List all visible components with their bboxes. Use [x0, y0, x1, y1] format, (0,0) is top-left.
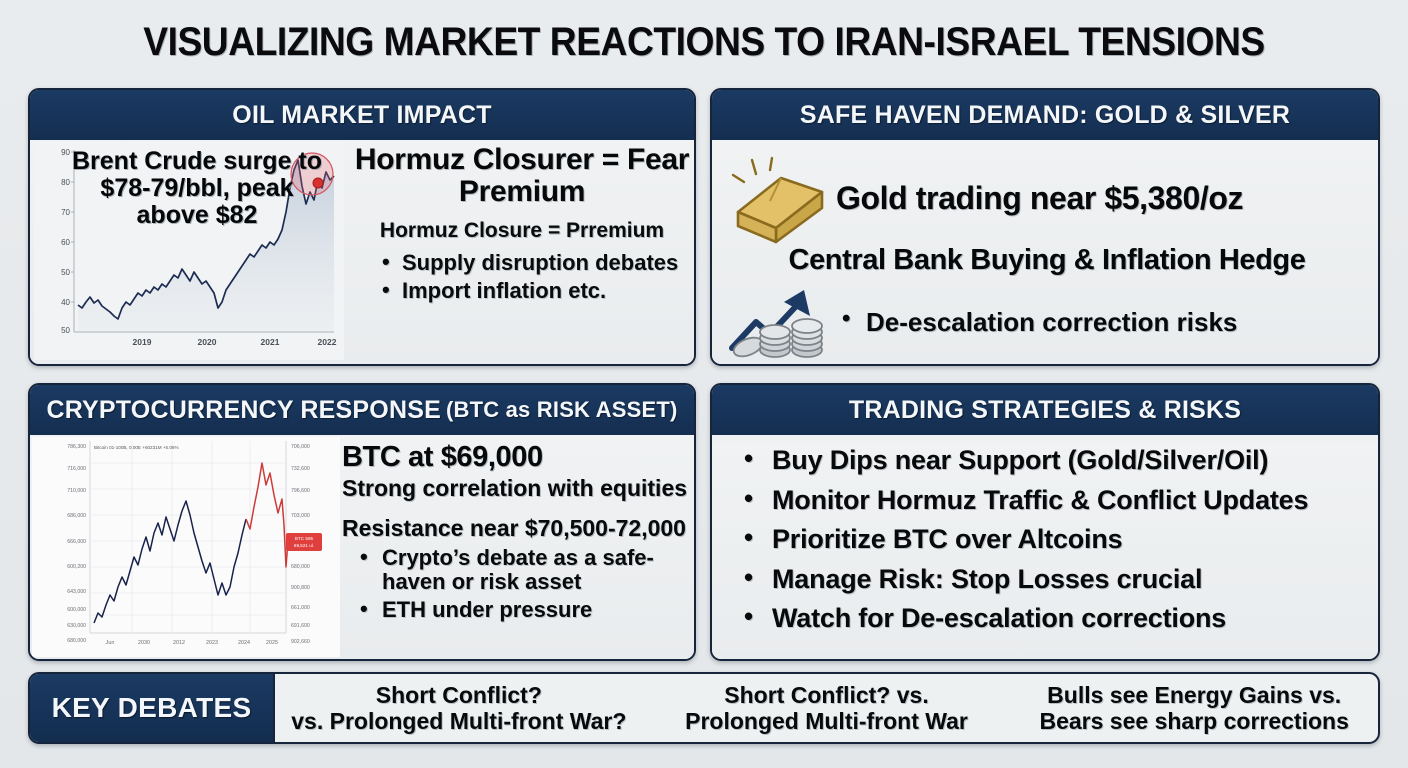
- svg-text:900,800: 900,800: [291, 585, 310, 591]
- panel-crypto-header: CRYPTOCURRENCY RESPONSE (BTC as RISK ASS…: [30, 385, 694, 435]
- svg-text:60: 60: [61, 238, 70, 247]
- silver-coins-trend-icon: [726, 282, 834, 362]
- panel-oil-market: OIL MARKET IMPACT 90 80 70 60 50 40 50: [28, 88, 696, 366]
- svg-text:2012: 2012: [173, 640, 185, 646]
- svg-text:703,000: 703,000: [291, 513, 310, 519]
- svg-text:630,000: 630,000: [67, 623, 86, 629]
- key-debate-cell-3: Bulls see Energy Gains vs. Bears see sha…: [1010, 674, 1378, 742]
- svg-text:2019: 2019: [133, 337, 152, 347]
- svg-text:Jun: Jun: [106, 640, 115, 646]
- svg-text:732,600: 732,600: [291, 466, 310, 472]
- gold-headline-row: Gold trading near $5,380/oz: [726, 150, 1366, 246]
- svg-text:796,600: 796,600: [291, 488, 310, 494]
- gold-bar-icon: [726, 152, 832, 244]
- svg-text:BTC 595: BTC 595: [295, 536, 314, 541]
- btc-resistance: Resistance near $70,500-72,000: [342, 515, 690, 542]
- panel-trading-body: Buy Dips near Support (Gold/Silver/Oil) …: [712, 441, 1378, 661]
- svg-text:2021: 2021: [261, 337, 280, 347]
- gold-headline: Gold trading near $5,380/oz: [836, 180, 1243, 217]
- list-item: Watch for De-escalation corrections: [744, 599, 1378, 639]
- svg-text:2022: 2022: [318, 337, 337, 347]
- list-item: Manage Risk: Stop Losses crucial: [744, 560, 1378, 600]
- crypto-text-block: BTC at $69,000 Strong correlation with e…: [342, 441, 690, 623]
- panel-crypto-header-main: CRYPTOCURRENCY RESPONSE: [46, 396, 441, 425]
- list-item: ETH under pressure: [360, 598, 690, 622]
- list-item: Import inflation etc.: [382, 277, 692, 305]
- debate-line-1: Short Conflict?: [291, 682, 626, 708]
- key-debate-cell-2: Short Conflict? vs. Prolonged Multi-fron…: [643, 674, 1011, 742]
- page-title: VISUALIZING MARKET REACTIONS TO IRAN-ISR…: [49, 20, 1358, 65]
- svg-text:69,521 ul.: 69,521 ul.: [294, 543, 314, 548]
- oil-overlay-callout: Brent Crude surge to $78-79/bbl, peak ab…: [62, 148, 332, 228]
- svg-text:50: 50: [61, 268, 70, 277]
- svg-text:600,200: 600,200: [67, 564, 86, 570]
- svg-text:2030: 2030: [138, 640, 150, 646]
- list-item: Monitor Hormuz Traffic & Conflict Update…: [744, 481, 1378, 521]
- key-debates-label: KEY DEBATES: [30, 674, 275, 742]
- svg-text:902,660: 902,660: [291, 639, 310, 645]
- btc-subhead: Strong correlation with equities: [342, 475, 690, 502]
- svg-text:2025: 2025: [266, 640, 278, 646]
- panel-gold-body: Gold trading near $5,380/oz Central Bank…: [712, 140, 1378, 364]
- btc-price-chart: Bitcoin 01-100B, 0.00E +60231M +5.06% 78…: [32, 437, 340, 657]
- svg-text:2024: 2024: [238, 640, 250, 646]
- svg-text:661,000: 661,000: [291, 605, 310, 611]
- svg-text:710,000: 710,000: [67, 488, 86, 494]
- gold-bullet-row: De-escalation correction risks: [726, 282, 1368, 362]
- svg-text:666,000: 666,000: [67, 539, 86, 545]
- debate-line-2: vs. Prolonged Multi-front War?: [291, 708, 626, 734]
- oil-subhead: Hormuz Closure = Prremium: [352, 219, 692, 243]
- panel-trading-header: TRADING STRATEGIES & RISKS: [712, 385, 1378, 435]
- gold-subhead: Central Bank Buying & Inflation Hedge: [726, 244, 1368, 277]
- list-item: Crypto’s debate as a safe-haven or risk …: [360, 546, 690, 594]
- panel-crypto-header-sub: (BTC as RISK ASSET): [446, 397, 678, 423]
- svg-text:786,300: 786,300: [67, 444, 86, 450]
- panel-oil-header: OIL MARKET IMPACT: [30, 90, 694, 140]
- panel-gold-header: SAFE HAVEN DEMAND: GOLD & SILVER: [712, 90, 1378, 140]
- svg-text:686,000: 686,000: [67, 513, 86, 519]
- panel-safe-haven: SAFE HAVEN DEMAND: GOLD & SILVER Gold tr…: [710, 88, 1380, 366]
- debate-line-2: Bears see sharp corrections: [1039, 708, 1348, 734]
- panel-trading-strategies: TRADING STRATEGIES & RISKS Buy Dips near…: [710, 383, 1380, 661]
- svg-text:706,000: 706,000: [291, 444, 310, 450]
- svg-text:680,000: 680,000: [67, 638, 86, 644]
- key-debate-cell-1: Short Conflict? vs. Prolonged Multi-fron…: [275, 674, 643, 742]
- svg-text:643,000: 643,000: [67, 589, 86, 595]
- svg-text:600,000: 600,000: [67, 607, 86, 613]
- oil-headline: Hormuz Closurer = Fear Premium: [352, 144, 692, 208]
- panel-crypto-body: Bitcoin 01-100B, 0.00E +60231M +5.06% 78…: [30, 435, 694, 659]
- oil-text-block: Hormuz Closurer = Fear Premium Hormuz Cl…: [352, 144, 692, 305]
- trading-bullet-list: Buy Dips near Support (Gold/Silver/Oil) …: [712, 441, 1378, 639]
- debate-line-2: Prolonged Multi-front War: [685, 708, 968, 734]
- svg-text:716,000: 716,000: [67, 466, 86, 472]
- crypto-bullet-list: Crypto’s debate as a safe-haven or risk …: [342, 546, 690, 623]
- debate-line-1: Short Conflict? vs.: [685, 682, 968, 708]
- svg-text:40: 40: [61, 298, 70, 307]
- svg-text:680,000: 680,000: [291, 564, 310, 570]
- svg-text:2023: 2023: [206, 640, 218, 646]
- list-item: Prioritize BTC over Altcoins: [744, 520, 1378, 560]
- btc-chart-caption: Bitcoin 01-100B, 0.00E +60231M +5.06%: [94, 445, 179, 450]
- svg-text:50: 50: [61, 326, 70, 335]
- oil-bullet-list: Supply disruption debates Import inflati…: [352, 249, 692, 305]
- debate-line-1: Bulls see Energy Gains vs.: [1039, 682, 1348, 708]
- panel-oil-body: 90 80 70 60 50 40 50: [30, 140, 694, 364]
- panel-cryptocurrency: CRYPTOCURRENCY RESPONSE (BTC as RISK ASS…: [28, 383, 696, 661]
- list-item: Buy Dips near Support (Gold/Silver/Oil): [744, 441, 1378, 481]
- btc-headline: BTC at $69,000: [342, 441, 690, 474]
- infographic-page: VISUALIZING MARKET REACTIONS TO IRAN-ISR…: [0, 0, 1408, 768]
- svg-text:691,600: 691,600: [291, 623, 310, 629]
- list-item: De-escalation correction risks: [840, 307, 1237, 338]
- key-debates-bar: KEY DEBATES Short Conflict? vs. Prolonge…: [28, 672, 1380, 744]
- list-item: Supply disruption debates: [382, 249, 692, 277]
- svg-text:2020: 2020: [198, 337, 217, 347]
